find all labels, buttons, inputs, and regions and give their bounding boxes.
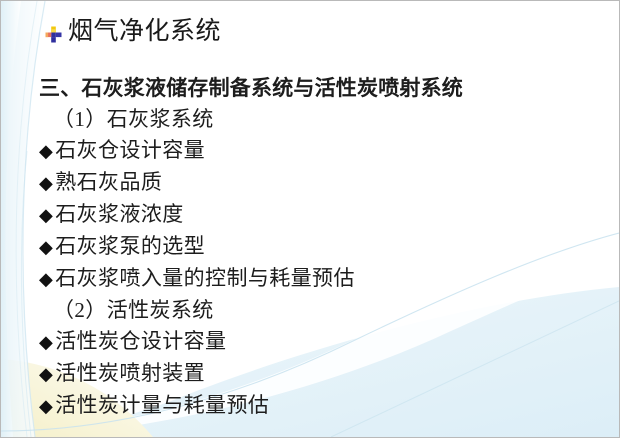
slide-canvas: 烟气净化系统 三、石灰浆液储存制备系统与活性炭喷射系统 （1）石灰浆系统 ◆ 石… (0, 0, 620, 438)
list-item-label: 石灰浆喷入量的控制与耗量预估 (55, 263, 355, 294)
multicolor-cross-icon (45, 26, 62, 43)
list-item-label: 熟石灰品质 (55, 167, 162, 198)
subsection-label-1: （1）石灰浆系统 (39, 104, 599, 135)
list-item-label: 石灰浆液浓度 (55, 199, 183, 230)
list-item: ◆ 石灰浆泵的选型 (39, 231, 599, 263)
diamond-bullet-icon: ◆ (39, 359, 53, 390)
diamond-bullet-icon: ◆ (39, 264, 53, 295)
list-item: ◆ 熟石灰品质 (39, 167, 599, 199)
list-item-label: 活性炭计量与耗量预估 (55, 390, 269, 421)
list-item: ◆ 活性炭喷射装置 (39, 358, 599, 390)
slide-title: 烟气净化系统 (68, 17, 221, 47)
list-item: ◆ 石灰浆喷入量的控制与耗量预估 (39, 263, 599, 295)
diamond-bullet-icon: ◆ (39, 232, 53, 263)
section-heading: 三、石灰浆液储存制备系统与活性炭喷射系统 (39, 73, 599, 104)
diamond-bullet-icon: ◆ (39, 200, 53, 231)
list-item: ◆ 活性炭计量与耗量预估 (39, 390, 599, 422)
list-item: ◆ 石灰浆液浓度 (39, 199, 599, 231)
list-item: ◆ 石灰仓设计容量 (39, 135, 599, 167)
list-item-label: 石灰浆泵的选型 (55, 231, 205, 262)
slide-body: 三、石灰浆液储存制备系统与活性炭喷射系统 （1）石灰浆系统 ◆ 石灰仓设计容量 … (39, 73, 599, 422)
diamond-bullet-icon: ◆ (39, 391, 53, 422)
list-item-label: 活性炭仓设计容量 (55, 326, 226, 357)
subsection-label-2: （2）活性炭系统 (39, 295, 599, 326)
list-item-label: 活性炭喷射装置 (55, 358, 205, 389)
slide-title-row: 烟气净化系统 (45, 17, 221, 47)
diamond-bullet-icon: ◆ (39, 327, 53, 358)
diamond-bullet-icon: ◆ (39, 168, 53, 199)
list-item-label: 石灰仓设计容量 (55, 135, 205, 166)
diamond-bullet-icon: ◆ (39, 136, 53, 167)
list-item: ◆ 活性炭仓设计容量 (39, 326, 599, 358)
